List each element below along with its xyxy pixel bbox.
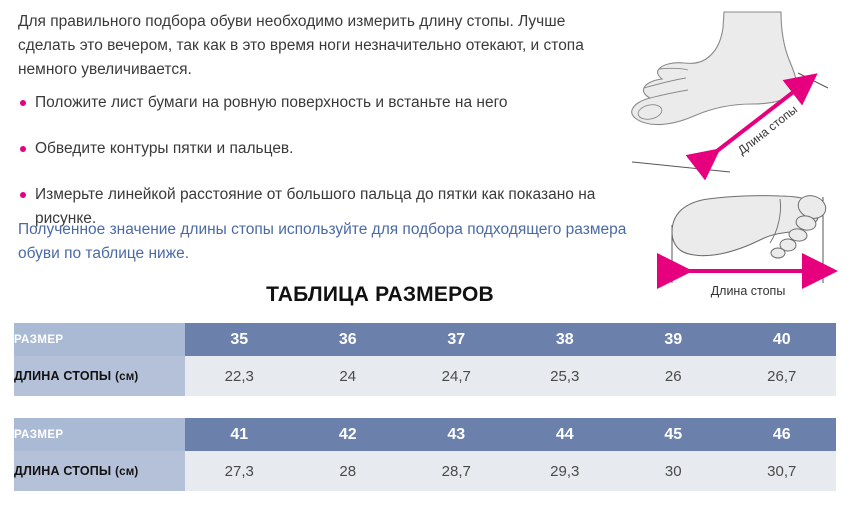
table-row-length-label: ДЛИНА СТОПЫ (см) <box>14 451 185 491</box>
table-cell-length: 28 <box>294 451 403 491</box>
row-label-text: ДЛИНА СТОПЫ <box>14 464 111 478</box>
table-row-length-label: ДЛИНА СТОПЫ (см) <box>14 356 185 396</box>
table-cell-length: 22,3 <box>185 356 294 396</box>
table-row: РАЗМЕР 35 36 37 38 39 40 <box>14 323 836 356</box>
size-table-european-small: РАЗМЕР 35 36 37 38 39 40 ДЛИНА СТОПЫ (см… <box>14 323 836 396</box>
foot-sole-view-illustration: Длина стопы <box>620 175 851 315</box>
bullet-dot-icon <box>20 192 26 198</box>
table-cell-length: 29,3 <box>511 451 620 491</box>
table-cell-length: 26,7 <box>728 356 837 396</box>
table-header-size-value: 41 <box>185 418 294 451</box>
list-item: Положите лист бумаги на ровную поверхнос… <box>18 91 623 115</box>
table-header-size-value: 40 <box>728 323 837 356</box>
table-header-size-value: 35 <box>185 323 294 356</box>
table-cell-length: 25,3 <box>511 356 620 396</box>
table-cell-length: 30,7 <box>728 451 837 491</box>
table-cell-length: 28,7 <box>402 451 511 491</box>
highlighted-note: Полученное значение длины стопы использу… <box>18 218 628 266</box>
table-cell-length: 27,3 <box>185 451 294 491</box>
table-header-size-value: 38 <box>511 323 620 356</box>
measurement-label: Длина стопы <box>711 284 786 298</box>
table-cell-length: 26 <box>619 356 728 396</box>
table-cell-length: 24 <box>294 356 403 396</box>
sole-outline-shape <box>672 196 819 256</box>
table-header-size-value: 46 <box>728 418 837 451</box>
table-cell-length: 24,7 <box>402 356 511 396</box>
ground-line-front <box>632 162 730 172</box>
row-label-unit: (см) <box>115 466 138 478</box>
row-label-unit: (см) <box>115 371 138 383</box>
table-row: РАЗМЕР 41 42 43 44 45 46 <box>14 418 836 451</box>
toe-5 <box>771 248 785 258</box>
table-header-size-value: 39 <box>619 323 728 356</box>
table-row: ДЛИНА СТОПЫ (см) 22,3 24 24,7 25,3 26 26… <box>14 356 836 396</box>
list-item-label: Обведите контуры пятки и пальцев. <box>35 140 293 157</box>
table-header-size-value: 42 <box>294 418 403 451</box>
table-header-size-value: 43 <box>402 418 511 451</box>
bullet-dot-icon <box>20 100 26 106</box>
foot-side-view-illustration: Длина стопы <box>620 0 851 180</box>
table-cell-length: 30 <box>619 451 728 491</box>
table-header-size-value: 44 <box>511 418 620 451</box>
list-item-label: Положите лист бумаги на ровную поверхнос… <box>35 94 508 111</box>
page-title: ТАБЛИЦА РАЗМЕРОВ <box>185 283 575 307</box>
intro-text: Для правильного подбора обуви необходимо… <box>18 10 618 82</box>
list-item: Обведите контуры пятки и пальцев. <box>18 137 623 161</box>
size-table-european-large: РАЗМЕР 41 42 43 44 45 46 ДЛИНА СТОПЫ (см… <box>14 418 836 491</box>
table-header-size-value: 37 <box>402 323 511 356</box>
table-row: ДЛИНА СТОПЫ (см) 27,3 28 28,7 29,3 30 30… <box>14 451 836 491</box>
table-header-size-label: РАЗМЕР <box>14 418 185 451</box>
table-header-size-value: 36 <box>294 323 403 356</box>
intro-paragraph: Для правильного подбора обуви необходимо… <box>18 10 618 82</box>
row-label-text: ДЛИНА СТОПЫ <box>14 369 111 383</box>
bullet-dot-icon <box>20 146 26 152</box>
note-text: Полученное значение длины стопы использу… <box>18 218 628 266</box>
instruction-steps-list: Положите лист бумаги на ровную поверхнос… <box>18 91 623 231</box>
table-header-size-label: РАЗМЕР <box>14 323 185 356</box>
table-header-size-value: 45 <box>619 418 728 451</box>
